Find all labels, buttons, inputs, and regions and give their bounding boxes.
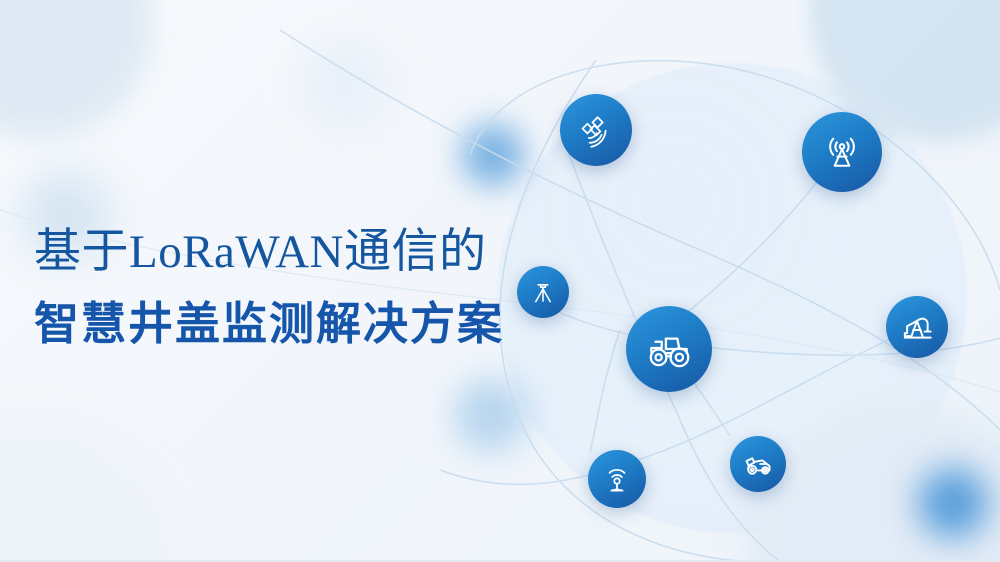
survey-tripod-icon	[528, 277, 558, 307]
node-satellite	[560, 94, 632, 166]
node-oil-pumpjack	[886, 296, 948, 358]
title-line-1: 基于LoRaWAN通信的	[34, 228, 504, 278]
harvester-icon	[740, 446, 776, 482]
radio-tower-icon	[819, 129, 865, 175]
satellite-icon	[576, 110, 616, 150]
node-radio-tower	[802, 112, 882, 192]
orbit-curve-7	[590, 330, 620, 452]
soft-circle-bottom-left	[0, 412, 180, 562]
title-line-2: 智慧井盖监测解决方案	[34, 300, 504, 348]
accent-dot-1	[462, 124, 524, 186]
orbit-curve-1	[470, 61, 1000, 290]
node-wireless-sensor	[588, 450, 646, 508]
node-tractor	[626, 306, 712, 392]
tractor-icon	[643, 323, 695, 375]
slide-title: 基于LoRaWAN通信的 智慧井盖监测解决方案	[34, 228, 504, 348]
accent-dot-2	[454, 378, 528, 452]
accent-dot-3	[918, 468, 988, 538]
soft-circle-top-left	[0, 0, 154, 140]
accent-dot-5	[300, 40, 390, 130]
wireless-sensor-icon	[600, 462, 634, 496]
node-survey-tripod	[517, 266, 569, 318]
slide-canvas: 基于LoRaWAN通信的 智慧井盖监测解决方案	[0, 0, 1000, 562]
node-harvester	[730, 436, 786, 492]
oil-pumpjack-icon	[898, 308, 936, 346]
